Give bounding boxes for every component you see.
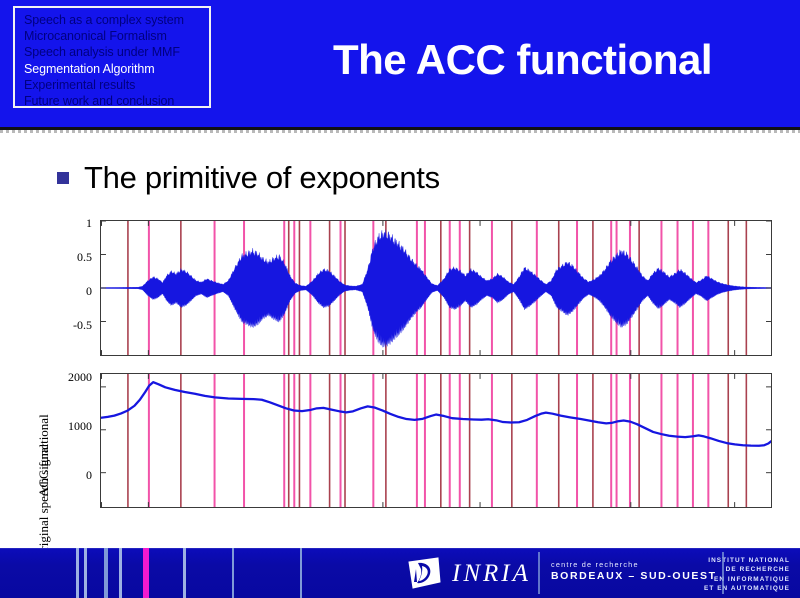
footer-separator-left [538, 552, 540, 594]
top-chart-ytick-1: 0.5 [52, 250, 92, 265]
footer-institut-line-2: EN INFORMATIQUE [704, 575, 790, 584]
footer-bar-4 [119, 548, 122, 598]
footer-bar-2 [84, 548, 87, 598]
figure-container: Original speech signal 1 0.5 0 -0.5 ACC … [0, 212, 800, 522]
outline-navigation-box[interactable]: Speech as a complex system Microcanonica… [13, 6, 211, 108]
inria-wordmark: INRIA [452, 561, 531, 586]
acc-functional-curve [101, 374, 771, 507]
inria-centre-block: centre de recherche BORDEAUX – SUD-OUEST [551, 560, 717, 582]
footer-bar-6 [232, 548, 234, 598]
bullet-row: The primitive of exponents [57, 160, 440, 196]
bottom-chart-plot-area [100, 373, 772, 508]
bottom-chart-ytick-1: 1000 [54, 419, 92, 434]
inria-bird-icon [405, 556, 443, 590]
original-speech-signal-waveform [101, 221, 771, 355]
outline-item-4[interactable]: Experimental results [24, 77, 209, 93]
top-chart-ytick-2: 0 [62, 284, 92, 299]
inria-logo: INRIA [405, 556, 531, 590]
footer-bar-5 [183, 548, 186, 598]
centre-big-label: BORDEAUX – SUD-OUEST [551, 570, 717, 582]
bottom-chart-ytick-2: 0 [62, 468, 92, 483]
footer-bar-1 [76, 548, 79, 598]
bottom-chart-ytick-0: 2000 [54, 370, 92, 385]
bottom-chart-ylabel: ACC functional [36, 414, 52, 497]
outline-item-3-active[interactable]: Segmentation Algorithm [24, 61, 209, 77]
outline-item-5[interactable]: Future work and conclusion [24, 93, 209, 109]
top-chart-ytick-0: 1 [62, 216, 92, 231]
top-chart-ytick-3: -0.5 [48, 318, 92, 333]
footer-bar-7 [300, 548, 302, 598]
footer-separator-right [722, 552, 724, 594]
footer-institut-text: INSTITUT NATIONAL DE RECHERCHE EN INFORM… [704, 556, 790, 593]
footer-accent-bar-magenta [143, 548, 149, 598]
outline-item-0[interactable]: Speech as a complex system [24, 12, 209, 28]
header-divider-dots [0, 130, 800, 133]
bullet-label: The primitive of exponents [84, 160, 440, 196]
top-chart-plot-area [100, 220, 772, 356]
footer-institut-line-3: ET EN AUTOMATIQUE [704, 584, 790, 593]
outline-item-1[interactable]: Microcanonical Formalism [24, 28, 209, 44]
slide-title: The ACC functional [255, 36, 790, 84]
outline-item-2[interactable]: Speech analysis under MMF [24, 44, 209, 60]
footer-institut-line-1: DE RECHERCHE [704, 565, 790, 574]
square-bullet-icon [57, 172, 69, 184]
footer-institut-line-0: INSTITUT NATIONAL [704, 556, 790, 565]
footer-bar-3 [104, 548, 108, 598]
centre-small-label: centre de recherche [551, 560, 717, 570]
